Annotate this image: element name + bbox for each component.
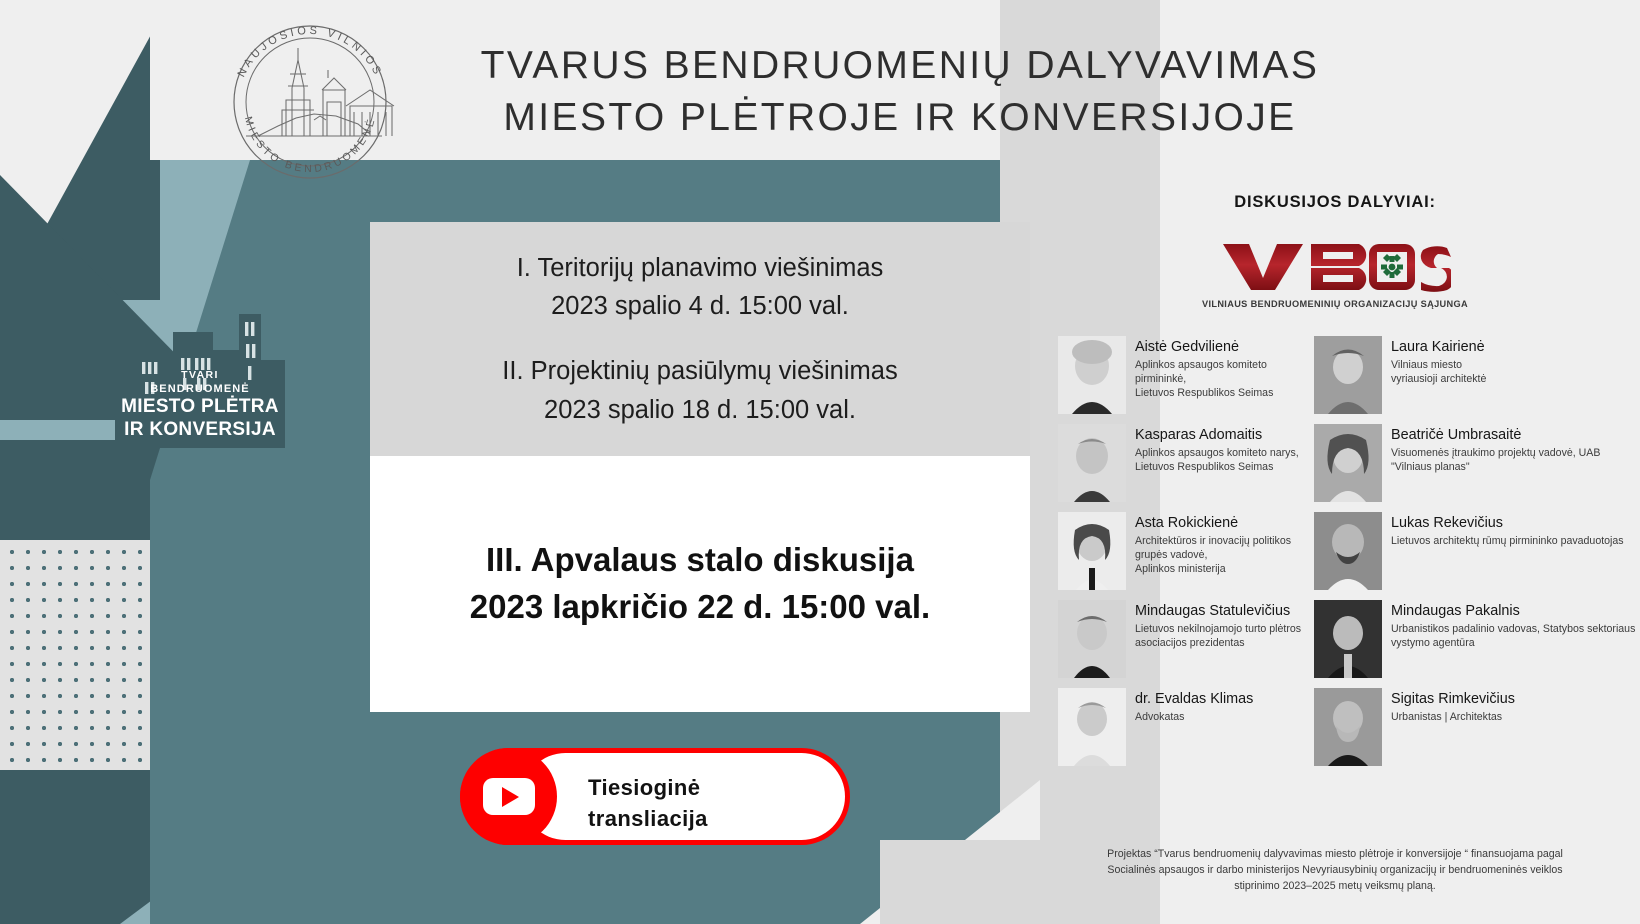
sponsor-tagline: VILNIAUS BENDRUOMENINIŲ ORGANIZACIJŲ SĄJ… (1040, 299, 1630, 309)
avatar (1314, 336, 1382, 414)
participant-card: Asta Rokickienė Architektūros ir inovaci… (1058, 512, 1306, 590)
avatar (1058, 512, 1126, 590)
vbos-wordmark-icon (1219, 240, 1451, 292)
agenda-panel-highlight: III. Apvalaus stalo diskusija 2023 lapkr… (370, 456, 1030, 712)
participant-name: Kasparas Adomaitis (1135, 427, 1299, 443)
participant-card: Laura Kairienė Vilniaus miesto vyriausio… (1314, 336, 1640, 414)
decor-dark-triangle (0, 440, 370, 770)
avatar (1058, 424, 1126, 502)
session-item-1: I. Teritorijų planavimo viešinimas 2023 … (517, 249, 884, 327)
participant-info: Laura Kairienė Vilniaus miesto vyriausio… (1391, 336, 1486, 386)
community-seal-logo: NAUJOSIOS VILNIOS MIESTO BENDRUOMENĖ (218, 14, 403, 189)
poster-title-line2: MIESTO PLĖTROJE IR KONVERSIJOJE (420, 92, 1380, 144)
decor-teal-lower (0, 770, 200, 924)
funding-note: Projektas “Tvarus bendruomenių dalyvavim… (1040, 846, 1630, 894)
decor-bottom-white (860, 780, 1040, 924)
city-logo-line3b: IR KONVERSIJA (115, 420, 285, 440)
poster-canvas: NAUJOSIOS VILNIOS MIESTO BENDRUOMENĖ (0, 0, 1640, 924)
funding-note-line1: Projektas “Tvarus bendruomenių dalyvavim… (1040, 846, 1630, 862)
funding-note-line3: stiprinimo 2023–2025 metų veiksmų planą. (1040, 878, 1630, 894)
participants-column-right: Laura Kairienė Vilniaus miesto vyriausio… (1314, 336, 1640, 766)
participant-role: Urbanistikos padalinio vadovas, Statybos… (1391, 622, 1640, 650)
participant-name: dr. Evaldas Klimas (1135, 691, 1253, 707)
participant-name: Beatričė Umbrasaitė (1391, 427, 1640, 443)
participant-role: Architektūros ir inovacijų politikos gru… (1135, 534, 1306, 576)
decor-bottom-grey (880, 840, 1040, 924)
participant-card: Mindaugas Statulevičius Lietuvos nekilno… (1058, 600, 1306, 678)
avatar (1314, 424, 1382, 502)
avatar (1314, 600, 1382, 678)
sponsor-logo: VILNIAUS BENDRUOMENINIŲ ORGANIZACIJŲ SĄJ… (1040, 240, 1630, 309)
participant-role: Lietuvos architektų rūmų pirmininko pava… (1391, 534, 1624, 548)
poster-title-line1: TVARUS BENDRUOMENIŲ DALYVAVIMAS (420, 40, 1380, 92)
participant-name: Lukas Rekevičius (1391, 515, 1624, 531)
participant-role: Urbanistas | Architektas (1391, 710, 1515, 724)
participant-card: Mindaugas Pakalnis Urbanistikos padalini… (1314, 600, 1640, 678)
participant-info: Mindaugas Statulevičius Lietuvos nekilno… (1135, 600, 1306, 650)
participant-info: dr. Evaldas Klimas Advokatas (1135, 688, 1253, 724)
participants-heading: DISKUSIJOS DALYVIAI: (1040, 193, 1630, 212)
participant-info: Mindaugas Pakalnis Urbanistikos padalini… (1391, 600, 1640, 650)
participant-card: Lukas Rekevičius Lietuvos architektų rūm… (1314, 512, 1640, 590)
session-2-datetime: 2023 spalio 18 d. 15:00 val. (502, 391, 897, 430)
participant-name: Mindaugas Pakalnis (1391, 603, 1640, 619)
participant-info: Kasparas Adomaitis Aplinkos apsaugos kom… (1135, 424, 1299, 474)
avatar (1314, 512, 1382, 590)
session-1-title: I. Teritorijų planavimo viešinimas (517, 249, 884, 288)
participant-role: Lietuvos nekilnojamojo turto plėtros aso… (1135, 622, 1306, 650)
participant-name: Aistė Gedvilienė (1135, 339, 1306, 355)
svg-text:NAUJOSIOS VILNIOS: NAUJOSIOS VILNIOS (236, 25, 385, 79)
session-item-2: II. Projektinių pasiūlymų viešinimas 202… (502, 352, 897, 430)
participant-info: Beatričė Umbrasaitė Visuomenės įtraukimo… (1391, 424, 1640, 474)
participant-card: dr. Evaldas Klimas Advokatas (1058, 688, 1306, 766)
city-logo-line3a: MIESTO PLĖTRA (115, 397, 285, 417)
session-item-3: III. Apvalaus stalo diskusija 2023 lapkr… (470, 537, 930, 631)
session-3-datetime: 2023 lapkričio 22 d. 15:00 val. (470, 584, 930, 631)
city-logo-line2: BENDRUOMENĖ (115, 383, 285, 395)
funding-note-line2: Socialinės apsaugos ir darbo ministerijo… (1040, 862, 1630, 878)
participant-info: Aistė Gedvilienė Aplinkos apsaugos komit… (1135, 336, 1306, 400)
avatar (1314, 688, 1382, 766)
participant-info: Asta Rokickienė Architektūros ir inovaci… (1135, 512, 1306, 576)
participants-column-left: Aistė Gedvilienė Aplinkos apsaugos komit… (1058, 336, 1306, 766)
participant-role: Vilniaus miesto vyriausioji architektė (1391, 358, 1486, 386)
participant-role: Visuomenės įtraukimo projektų vadovė, UA… (1391, 446, 1640, 474)
participants-grid: Aistė Gedvilienė Aplinkos apsaugos komit… (1058, 336, 1640, 766)
youtube-play-icon (483, 778, 535, 815)
city-logo-line1: TVARI (115, 369, 285, 381)
participant-role: Aplinkos apsaugos komiteto pirmininkė, L… (1135, 358, 1306, 400)
live-stream-label-line2: transliacija (588, 803, 828, 834)
participant-card: Aistė Gedvilienė Aplinkos apsaugos komit… (1058, 336, 1306, 414)
participant-card: Beatričė Umbrasaitė Visuomenės įtraukimo… (1314, 424, 1640, 502)
decor-dot-grid (0, 540, 205, 924)
participant-info: Sigitas Rimkevičius Urbanistas | Archite… (1391, 688, 1515, 724)
participant-name: Sigitas Rimkevičius (1391, 691, 1515, 707)
live-stream-button[interactable]: Tiesioginė transliacija (460, 748, 850, 845)
live-stream-label: Tiesioginė transliacija (588, 772, 828, 834)
live-stream-label-line1: Tiesioginė (588, 772, 828, 803)
poster-title: TVARUS BENDRUOMENIŲ DALYVAVIMAS MIESTO P… (420, 40, 1380, 144)
participant-role: Aplinkos apsaugos komiteto narys, Lietuv… (1135, 446, 1299, 474)
participant-name: Mindaugas Statulevičius (1135, 603, 1306, 619)
decor-light-teal-lower (120, 700, 420, 924)
decor-teal-top-bar (0, 0, 160, 300)
participant-name: Laura Kairienė (1391, 339, 1486, 355)
participant-name: Asta Rokickienė (1135, 515, 1306, 531)
session-3-title: III. Apvalaus stalo diskusija (470, 537, 930, 584)
avatar (1058, 600, 1126, 678)
decor-white-diagonal (0, 0, 170, 310)
participant-info: Lukas Rekevičius Lietuvos architektų rūm… (1391, 512, 1624, 548)
agenda-panel-sessions: I. Teritorijų planavimo viešinimas 2023 … (370, 222, 1030, 456)
avatar (1058, 336, 1126, 414)
session-1-datetime: 2023 spalio 4 d. 15:00 val. (517, 287, 884, 326)
session-2-title: II. Projektinių pasiūlymų viešinimas (502, 352, 897, 391)
participant-role: Advokatas (1135, 710, 1253, 724)
city-logo-text: TVARI BENDRUOMENĖ MIESTO PLĖTRA IR KONVE… (115, 369, 285, 440)
youtube-icon (460, 748, 557, 845)
participant-card: Sigitas Rimkevičius Urbanistas | Archite… (1314, 688, 1640, 766)
city-program-logo: TVARI BENDRUOMENĖ MIESTO PLĖTRA IR KONVE… (115, 300, 285, 448)
participant-card: Kasparas Adomaitis Aplinkos apsaugos kom… (1058, 424, 1306, 502)
avatar (1058, 688, 1126, 766)
